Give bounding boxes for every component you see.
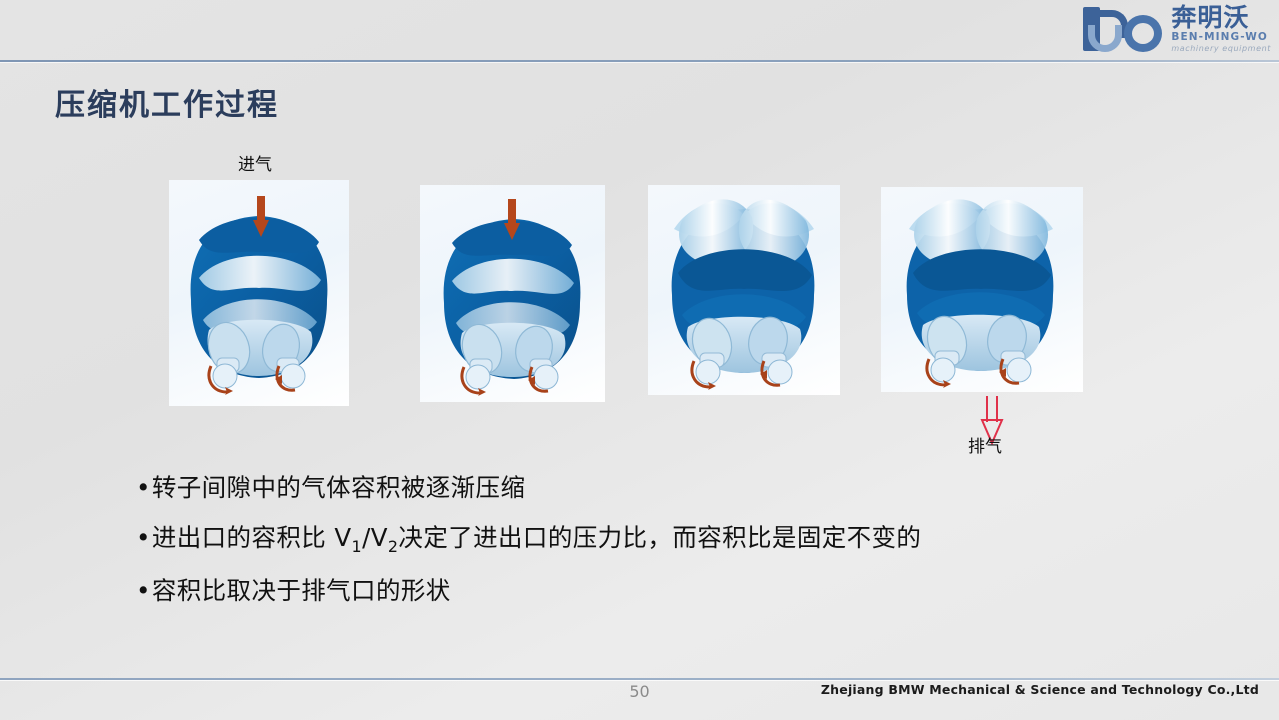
bullet-marker: • bbox=[136, 523, 151, 552]
company-footer-text: Zhejiang BMW Mechanical & Science and Te… bbox=[821, 682, 1259, 697]
rotor-image-stage-3 bbox=[648, 185, 840, 395]
intake-arrow-stage-1-icon bbox=[253, 196, 269, 238]
bullet-item-3: •容积比取决于排气口的形状 bbox=[136, 579, 1136, 604]
bullet-text-3: 容积比取决于排气口的形状 bbox=[152, 576, 451, 605]
volume-ratio-sub1: 1 bbox=[352, 536, 363, 555]
exhaust-label: 排气 bbox=[968, 432, 1002, 457]
bullet-marker: • bbox=[136, 576, 151, 605]
volume-ratio-sub2: 2 bbox=[388, 536, 399, 555]
bullet-item-2: •进出口的容积比 V1/V2决定了进出口的压力比，而容积比是固定不变的 bbox=[136, 526, 1136, 555]
volume-ratio-v1: V bbox=[334, 523, 351, 552]
bullet-item-1: •转子间隙中的气体容积被逐渐压缩 bbox=[136, 476, 1136, 501]
footer-divider-highlight bbox=[0, 680, 1279, 681]
rotor-image-stage-4 bbox=[881, 187, 1083, 392]
slide-root: 奔明沃 BEN-MING-WO machinery equipment 压缩机工… bbox=[0, 0, 1279, 720]
intake-arrow-stage-2-icon bbox=[504, 199, 520, 241]
bullet-text-2-pre: 进出口的容积比 bbox=[152, 523, 335, 552]
volume-ratio-v2: /V bbox=[362, 523, 388, 552]
bullet-marker: • bbox=[136, 473, 151, 502]
bullet-text-2-post: 决定了进出口的压力比，而容积比是固定不变的 bbox=[398, 523, 921, 552]
bullet-list: •转子间隙中的气体容积被逐渐压缩 •进出口的容积比 V1/V2决定了进出口的压力… bbox=[136, 476, 1136, 629]
bullet-text-1: 转子间隙中的气体容积被逐渐压缩 bbox=[152, 473, 526, 502]
